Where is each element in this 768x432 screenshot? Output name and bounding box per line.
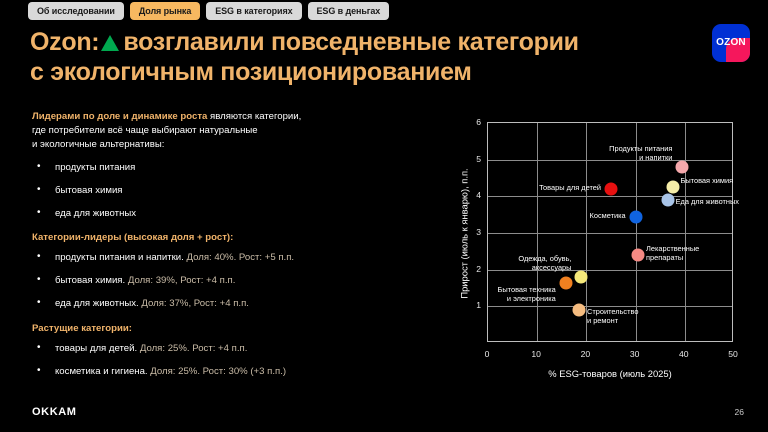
title-line2: с экологичным позиционированием bbox=[30, 58, 472, 86]
scatter-point-label: Строительство и ремонт bbox=[587, 307, 638, 326]
list-item: продукты питания и напитки. Доля: 40%. Р… bbox=[32, 251, 362, 265]
category-stats: Доля: 40%. Рост: +5 п.п. bbox=[184, 252, 294, 263]
y-tick-label: 1 bbox=[465, 300, 481, 310]
category-name: товары для детей. bbox=[55, 343, 137, 354]
x-tick-label: 10 bbox=[531, 349, 541, 359]
esg-scatter-chart: Прирост (июль к январю), п.п. % ESG-това… bbox=[440, 100, 760, 392]
scatter-point[interactable] bbox=[666, 181, 679, 194]
lead-paragraph: Лидерами по доле и динамике роста являют… bbox=[32, 110, 362, 152]
x-tick-label: 20 bbox=[581, 349, 591, 359]
chart-x-axis-label: % ESG-товаров (июль 2025) bbox=[487, 368, 733, 379]
green-up-triangle-icon bbox=[101, 35, 119, 51]
scatter-point[interactable] bbox=[632, 249, 645, 262]
lead-line3: и экологичные альтернативы: bbox=[32, 139, 164, 150]
list-item: еда для животных bbox=[32, 207, 362, 221]
x-tick-label: 30 bbox=[630, 349, 640, 359]
category-name: еда для животных. bbox=[55, 298, 139, 309]
insights-panel: Лидерами по доле и динамике роста являют… bbox=[32, 110, 362, 388]
category-stats: Доля: 39%, Рост: +4 п.п. bbox=[125, 275, 235, 286]
leaders-bullet-list: продукты питания и напитки. Доля: 40%. Р… bbox=[32, 251, 362, 311]
grid-line-horizontal bbox=[488, 233, 732, 234]
list-item: бытовая химия bbox=[32, 184, 362, 198]
y-tick-label: 4 bbox=[465, 190, 481, 200]
lead-rest: являются категории, bbox=[207, 111, 301, 122]
tab-1[interactable]: Доля рынка bbox=[130, 2, 200, 20]
scatter-point-label: Товары для детей bbox=[539, 183, 601, 192]
lead-highlight: Лидерами по доле и динамике роста bbox=[32, 111, 207, 122]
scatter-point[interactable] bbox=[661, 194, 674, 207]
lead-line2: где потребители всё чаще выбирают натура… bbox=[32, 125, 258, 136]
category-name: продукты питания и напитки. bbox=[55, 252, 184, 263]
okkam-logo: OKKAM bbox=[32, 406, 77, 418]
scatter-point[interactable] bbox=[605, 183, 618, 196]
category-name: бытовая химия. bbox=[55, 275, 125, 286]
scatter-point[interactable] bbox=[573, 304, 586, 317]
list-item: товары для детей. Доля: 25%. Рост: +4 п.… bbox=[32, 342, 362, 356]
x-tick-label: 40 bbox=[679, 349, 689, 359]
scatter-point[interactable] bbox=[629, 210, 642, 223]
scatter-point-label: Лекарственные препараты bbox=[646, 244, 699, 263]
list-item: продукты питания bbox=[32, 161, 362, 175]
lead-bullet-list: продукты питаниябытовая химияеда для жив… bbox=[32, 161, 362, 221]
category-stats: Доля: 25%. Рост: +4 п.п. bbox=[137, 343, 247, 354]
x-tick-label: 50 bbox=[728, 349, 738, 359]
scatter-point-label: Бытовая химия bbox=[681, 176, 734, 185]
scatter-point-label: Продукты питания и напитки bbox=[609, 144, 672, 163]
grid-line-vertical bbox=[685, 123, 686, 341]
category-stats: Доля: 25%. Рост: 30% (+3 п.п.) bbox=[148, 366, 286, 377]
tab-0[interactable]: Об исследовании bbox=[28, 2, 124, 20]
page-number: 26 bbox=[735, 407, 744, 417]
scatter-point-label: Косметика bbox=[590, 211, 626, 220]
growing-heading: Растущие категории: bbox=[32, 322, 362, 336]
scatter-point-label: Еда для животных bbox=[676, 197, 739, 206]
y-tick-label: 6 bbox=[465, 117, 481, 127]
scatter-point-label: Одежда, обувь, аксессуары bbox=[518, 254, 571, 273]
list-item: бытовая химия. Доля: 39%, Рост: +4 п.п. bbox=[32, 274, 362, 288]
leaders-heading: Категории-лидеры (высокая доля + рост): bbox=[32, 231, 362, 245]
tab-2[interactable]: ESG в категориях bbox=[206, 2, 301, 20]
ozon-logo-wordmark: OZON bbox=[712, 37, 750, 48]
title-line1: возглавили повседневные категории bbox=[123, 28, 578, 56]
scatter-point[interactable] bbox=[676, 161, 689, 174]
growing-bullet-list: товары для детей. Доля: 25%. Рост: +4 п.… bbox=[32, 342, 362, 379]
title-brand: Ozon: bbox=[30, 28, 99, 56]
x-tick-label: 0 bbox=[485, 349, 490, 359]
grid-line-vertical bbox=[537, 123, 538, 341]
y-tick-label: 5 bbox=[465, 154, 481, 164]
list-item: еда для животных. Доля: 37%, Рост: +4 п.… bbox=[32, 297, 362, 311]
scatter-point-label: Бытовая техника и электроника bbox=[498, 285, 556, 304]
tab-3[interactable]: ESG в деньгах bbox=[308, 2, 390, 20]
page-title: Ozon:возглавили повседневные категории с… bbox=[30, 28, 670, 87]
y-tick-label: 2 bbox=[465, 264, 481, 274]
ozon-logo: OZON bbox=[712, 24, 750, 62]
category-stats: Доля: 37%, Рост: +4 п.п. bbox=[139, 298, 249, 309]
category-name: косметика и гигиена. bbox=[55, 366, 148, 377]
list-item: косметика и гигиена. Доля: 25%. Рост: 30… bbox=[32, 365, 362, 379]
scatter-point[interactable] bbox=[559, 276, 572, 289]
scatter-point[interactable] bbox=[575, 271, 588, 284]
tab-bar: Об исследованииДоля рынкаESG в категория… bbox=[28, 2, 389, 20]
y-tick-label: 3 bbox=[465, 227, 481, 237]
